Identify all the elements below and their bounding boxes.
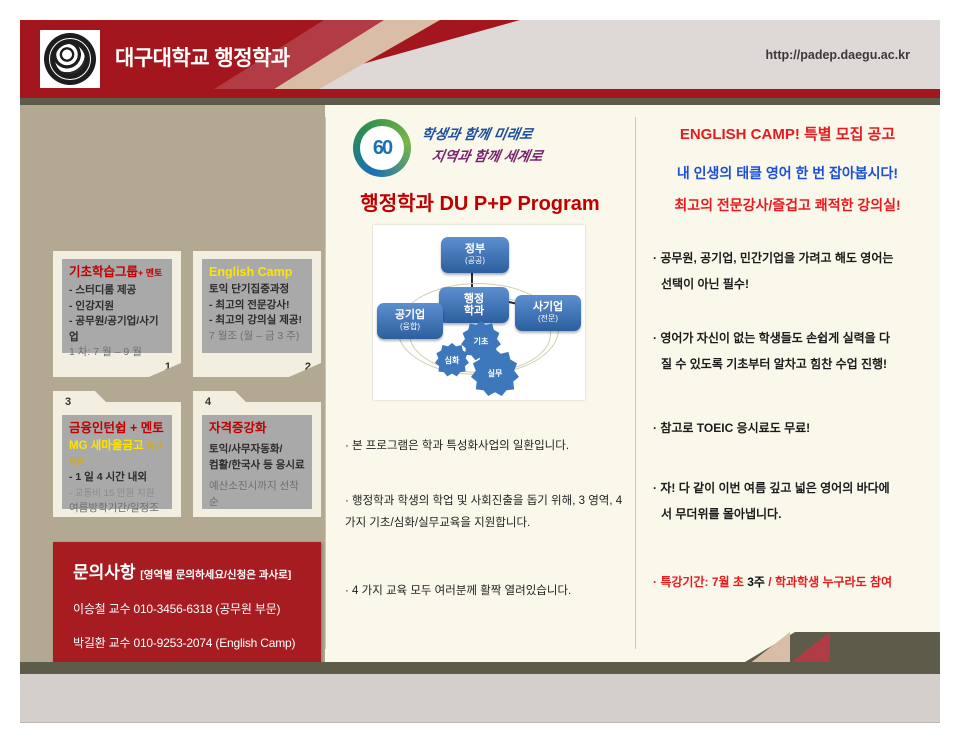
diagram-node-government: 정부 (공공) <box>441 237 509 273</box>
poster-root: 대구대학교 행정학과 http://padep.daegu.ac.kr 기초학습… <box>0 0 960 742</box>
center-note: · 본 프로그램은 학과 특성화사업의 일환입니다. <box>345 435 625 457</box>
right-column: ENGLISH CAMP! 특별 모집 공고 내 인생의 태클 영어 한 번 잡… <box>635 105 940 662</box>
center-note: · 4 가지 교육 모두 여러분께 활짝 열려있습니다. <box>345 580 625 602</box>
program-box-2-line: 7 월조 (월 – 금 3 주) <box>209 329 307 345</box>
english-camp-item: · 자! 다 같이 이번 여름 깊고 넓은 영어의 바다에 서 무더위를 몰아냅… <box>653 475 928 527</box>
diagram-node-private-enterprise: 사기업 (전문) <box>515 295 581 331</box>
program-box-4-line: 컴활/한국사 등 응시료 <box>209 458 307 474</box>
program-box-4-content: 자격증강화 토익/사무자동화/ 컴활/한국사 등 응시료 예산소진시까지 선착순 <box>202 415 312 509</box>
program-box-2-line: - 최고의 강의실 제공! <box>209 313 307 329</box>
program-box-3-content: 금융인턴쉽 + 멘토 MG 새마을금고 동산학은 - 1 일 4 시간 내외 -… <box>62 415 172 509</box>
program-box-2[interactable]: English Camp 토익 단기집중과정 - 최고의 전문강사! - 최고의… <box>193 251 321 377</box>
tiger-seal-icon <box>44 33 96 85</box>
header-shadow-bar <box>20 98 940 105</box>
program-box-4[interactable]: 4 자격증강화 토익/사무자동화/ 컴활/한국사 등 응시료 예산소진시까지 선… <box>193 391 321 517</box>
center-column: 60 학생과 함께 미래로 지역과 함께 세계로 행정학과 DU P+P Pro… <box>325 105 635 662</box>
contact-panel: 문의사항 [영역별 문의하세요/신청은 과사로] 이승철 교수 010-3456… <box>53 542 321 662</box>
program-box-3-subtitle: MG 새마을금고 동산학은 <box>69 438 167 470</box>
program-box-3-title: 금융인턴쉽 + 멘토 <box>69 420 167 436</box>
accent-tan <box>730 632 790 662</box>
english-camp-item: · 영어가 자신이 없는 학생들도 손쉽게 실력을 다 질 수 있도록 기초부터… <box>653 325 928 377</box>
program-structure-diagram: 정부 (공공) 행정 학과 공기업 (융합) 사기업 (전문) 기초 심화 실무 <box>373 225 585 400</box>
footer-olive-bar <box>20 662 940 674</box>
seal-inner-graphic <box>55 44 85 74</box>
program-box-4-line: 토익/사무자동화/ <box>209 442 307 458</box>
program-box-3-line: 여름방학기간/일정조정 <box>69 501 167 532</box>
website-url[interactable]: http://padep.daegu.ac.kr <box>766 48 910 62</box>
page-header: 대구대학교 행정학과 http://padep.daegu.ac.kr <box>20 20 940 98</box>
program-box-1-title: 기초학습그룹+ 멘토 <box>69 264 167 281</box>
program-box-1-content: 기초학습그룹+ 멘토 - 스터디룸 제공 - 인강지원 - 공무원/공기업/사기… <box>62 259 172 353</box>
program-box-1-number: 1 <box>165 361 171 373</box>
poster-body: 기초학습그룹+ 멘토 - 스터디룸 제공 - 인강지원 - 공무원/공기업/사기… <box>20 105 940 662</box>
du-anniversary-logo: 60 학생과 함께 미래로 지역과 함께 세계로 <box>347 117 617 179</box>
program-box-2-subtitle: 토익 단기집중과정 <box>209 282 307 298</box>
left-column: 기초학습그룹+ 멘토 - 스터디룸 제공 - 인강지원 - 공무원/공기업/사기… <box>20 105 325 662</box>
english-camp-heading: ENGLISH CAMP! 특별 모집 공고 <box>635 123 940 144</box>
program-box-1-line: - 스터디룸 제공 <box>69 283 167 299</box>
du-slogan: 학생과 함께 미래로 지역과 함께 세계로 <box>414 123 621 175</box>
header-bottom-strip <box>20 89 940 98</box>
program-box-2-content: English Camp 토익 단기집중과정 - 최고의 전문강사! - 최고의… <box>202 259 312 353</box>
program-box-3-line: - 1 일 4 시간 내외 <box>69 470 167 486</box>
program-box-1-line: - 공무원/공기업/사기업 <box>69 314 167 345</box>
diagram-node-public-enterprise: 공기업 (융합) <box>377 303 443 339</box>
diagram-node-department: 행정 학과 <box>439 287 509 323</box>
program-box-2-number: 2 <box>305 361 311 373</box>
footer-gray-area <box>20 674 940 722</box>
program-box-4-title: 자격증강화 <box>209 420 307 436</box>
english-camp-item: · 참고로 TOEIC 응시료도 무료! <box>653 415 928 441</box>
program-box-3-line: - 교통비 15 만원 지원 <box>69 486 167 502</box>
english-camp-subheading: 내 인생의 태클 영어 한 번 잡아봅시다! <box>635 163 940 183</box>
center-note: · 행정학과 학생의 학업 및 사회진출을 돕기 위해, 3 영역, 4 가지 … <box>345 490 625 534</box>
contact-row[interactable]: 박길환 교수 010-9253-2074 (English Camp) <box>53 634 321 651</box>
contact-title: 문의사항 [영역별 문의하세요/신청은 과사로] <box>53 558 321 583</box>
program-box-2-title: English Camp <box>209 264 307 280</box>
program-box-4-line: 예산소진시까지 선착순 <box>209 479 307 510</box>
program-box-2-line: - 최고의 전문강사! <box>209 298 307 314</box>
program-title: 행정학과 DU P+P Program <box>325 187 635 216</box>
program-box-1[interactable]: 기초학습그룹+ 멘토 - 스터디룸 제공 - 인강지원 - 공무원/공기업/사기… <box>53 251 181 377</box>
page-title: 대구대학교 행정학과 <box>115 42 290 72</box>
program-box-4-number: 4 <box>205 396 211 408</box>
english-camp-period: · 특강기간: 7월 초 3주 / 학과학생 누구라도 참여 <box>653 573 938 590</box>
program-box-3[interactable]: 3 금융인턴쉽 + 멘토 MG 새마을금고 동산학은 - 1 일 4 시간 내외… <box>53 391 181 517</box>
program-box-1-line: - 인강지원 <box>69 299 167 315</box>
english-camp-item: · 공무원, 공기업, 민간기업을 가려고 해도 영어는 선택이 아닌 필수! <box>653 245 928 297</box>
program-box-1-line: 1 차: 7 월 – 9 월 <box>69 345 167 361</box>
program-box-3-number: 3 <box>65 396 71 408</box>
footer-edge-line <box>20 722 940 723</box>
contact-row[interactable]: 이승철 교수 010-3456-6318 (공무원 부문) <box>53 600 321 617</box>
english-camp-tagline: 최고의 전문강사/즐겁고 쾌적한 강의실! <box>635 195 940 215</box>
bottom-right-accent <box>690 632 940 662</box>
du-60th-mark-icon: 60 <box>353 119 411 177</box>
university-logo <box>40 30 100 88</box>
